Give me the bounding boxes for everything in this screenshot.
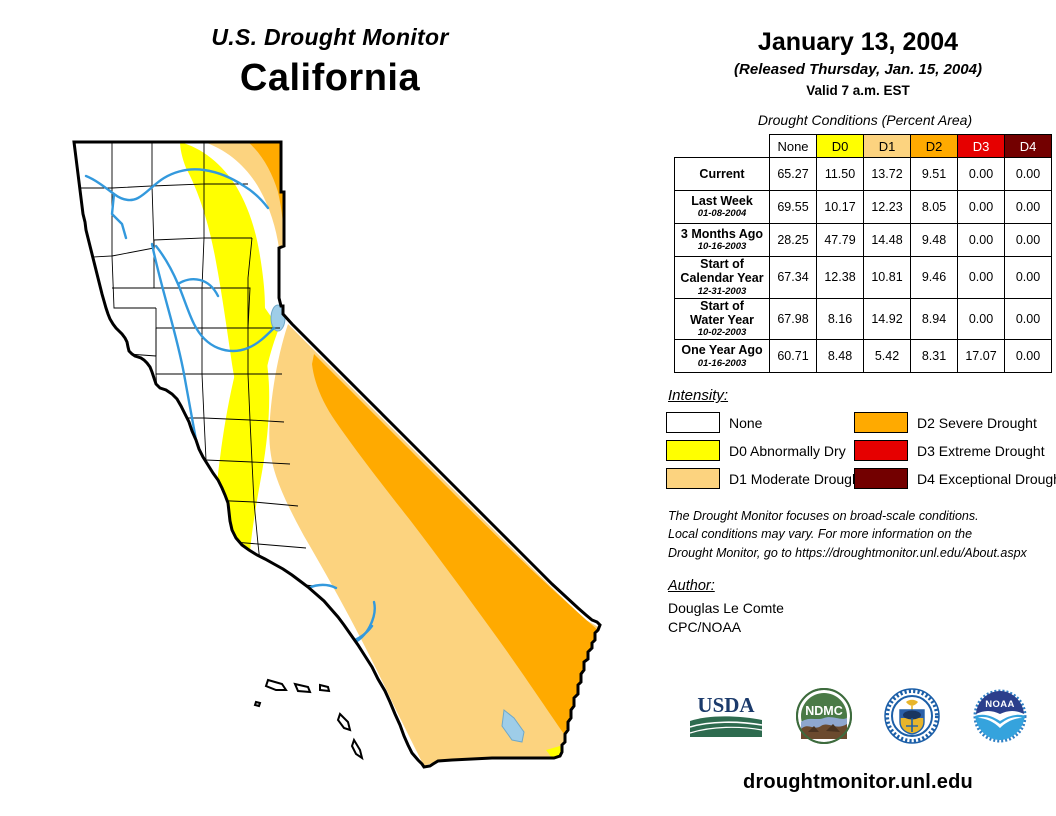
info-panel: January 13, 2004 (Released Thursday, Jan… xyxy=(660,0,1056,816)
column-header-none: None xyxy=(770,135,817,158)
table-row: Start ofWater Year10-02-200367.988.1614.… xyxy=(675,298,1052,340)
release-date: (Released Thursday, Jan. 15, 2004) xyxy=(660,61,1056,78)
cell-none: 60.71 xyxy=(770,340,817,373)
legend-item-d4: D4 Exceptional Drought xyxy=(854,468,1054,489)
author-label: Author: xyxy=(668,578,1056,594)
cell-d4: 0.00 xyxy=(1005,340,1052,373)
author-name: Douglas Le Comte xyxy=(668,599,1056,618)
cell-d4: 0.00 xyxy=(1005,158,1052,191)
svg-text:NOAA: NOAA xyxy=(985,699,1015,710)
cell-d0: 8.16 xyxy=(817,298,864,340)
row-label: Current xyxy=(675,158,770,191)
column-header-d3: D3 xyxy=(958,135,1005,158)
cell-d3: 0.00 xyxy=(958,158,1005,191)
row-label: Start ofCalendar Year12-31-2003 xyxy=(675,257,770,299)
cell-d3: 0.00 xyxy=(958,191,1005,224)
cell-d1: 5.42 xyxy=(864,340,911,373)
table-header-row: None D0 D1 D2 D3 D4 xyxy=(675,135,1052,158)
cell-d1: 14.92 xyxy=(864,298,911,340)
map-date: January 13, 2004 xyxy=(660,28,1056,57)
usda-logo: USDA xyxy=(688,691,764,741)
program-title: U.S. Drought Monitor xyxy=(0,24,660,51)
legend-swatch-d4 xyxy=(854,468,908,489)
commerce-seal-logo xyxy=(884,688,940,744)
disclaimer-line-2: Local conditions may vary. For more info… xyxy=(668,525,1056,543)
cell-d4: 0.00 xyxy=(1005,257,1052,299)
legend-label-d1: D1 Moderate Drought xyxy=(729,471,864,487)
legend-swatch-d1 xyxy=(666,468,720,489)
table-row: Start ofCalendar Year12-31-200367.3412.3… xyxy=(675,257,1052,299)
cell-d3: 17.07 xyxy=(958,340,1005,373)
cell-d3: 0.00 xyxy=(958,257,1005,299)
row-label: Last Week01-08-2004 xyxy=(675,191,770,224)
legend-item-d3: D3 Extreme Drought xyxy=(854,440,1054,461)
map-panel: U.S. Drought Monitor California xyxy=(0,0,660,816)
row-date: 10-02-2003 xyxy=(675,328,769,339)
svg-text:USDA: USDA xyxy=(697,693,755,717)
cell-d2: 9.46 xyxy=(911,257,958,299)
site-url[interactable]: droughtmonitor.unl.edu xyxy=(660,771,1056,794)
column-header-d0: D0 xyxy=(817,135,864,158)
cell-d0: 47.79 xyxy=(817,224,864,257)
cell-none: 65.27 xyxy=(770,158,817,191)
cell-none: 67.34 xyxy=(770,257,817,299)
cell-d2: 9.48 xyxy=(911,224,958,257)
row-label: 3 Months Ago10-16-2003 xyxy=(675,224,770,257)
cell-none: 28.25 xyxy=(770,224,817,257)
legend-swatch-d3 xyxy=(854,440,908,461)
table-row: Last Week01-08-200469.5510.1712.238.050.… xyxy=(675,191,1052,224)
cell-d3: 0.00 xyxy=(958,224,1005,257)
date-block: January 13, 2004 (Released Thursday, Jan… xyxy=(660,0,1056,98)
author-affiliation: CPC/NOAA xyxy=(668,618,1056,637)
legend-item-none: None xyxy=(666,412,854,433)
channel-islands xyxy=(255,680,362,758)
table-row: One Year Ago01-16-200360.718.485.428.311… xyxy=(675,340,1052,373)
intensity-legend: Intensity: NoneD2 Severe DroughtD0 Abnor… xyxy=(666,387,1056,489)
ndmc-logo: NDMC xyxy=(796,688,852,744)
legend-label-none: None xyxy=(729,415,762,431)
table-corner-cell xyxy=(675,135,770,158)
cell-d0: 11.50 xyxy=(817,158,864,191)
map-svg xyxy=(52,128,618,816)
cell-d0: 10.17 xyxy=(817,191,864,224)
table-row: Current65.2711.5013.729.510.000.00 xyxy=(675,158,1052,191)
cell-d4: 0.00 xyxy=(1005,191,1052,224)
cell-d2: 8.05 xyxy=(911,191,958,224)
row-date: 01-08-2004 xyxy=(675,209,769,220)
title-block: U.S. Drought Monitor California xyxy=(0,24,660,100)
cell-d3: 0.00 xyxy=(958,298,1005,340)
cell-d2: 9.51 xyxy=(911,158,958,191)
logo-row: USDA NDMC xyxy=(660,682,1056,750)
column-header-d1: D1 xyxy=(864,135,911,158)
table-caption: Drought Conditions (Percent Area) xyxy=(674,112,1056,128)
intensity-legend-title: Intensity: xyxy=(668,387,1056,404)
legend-label-d0: D0 Abnormally Dry xyxy=(729,443,846,459)
row-date: 01-16-2003 xyxy=(675,359,769,370)
page-title: California xyxy=(0,57,660,100)
cell-d0: 8.48 xyxy=(817,340,864,373)
column-header-d2: D2 xyxy=(911,135,958,158)
legend-item-d2: D2 Severe Drought xyxy=(854,412,1054,433)
row-date: 12-31-2003 xyxy=(675,287,769,298)
legend-item-d1: D1 Moderate Drought xyxy=(666,468,854,489)
row-date: 10-16-2003 xyxy=(675,242,769,253)
cell-d1: 14.48 xyxy=(864,224,911,257)
legend-swatch-d2 xyxy=(854,412,908,433)
cell-d2: 8.31 xyxy=(911,340,958,373)
cell-d1: 12.23 xyxy=(864,191,911,224)
cell-d4: 0.00 xyxy=(1005,224,1052,257)
legend-label-d3: D3 Extreme Drought xyxy=(917,443,1045,459)
column-header-d4: D4 xyxy=(1005,135,1052,158)
legend-grid: NoneD2 Severe DroughtD0 Abnormally DryD3… xyxy=(666,412,1056,489)
table-body: Current65.2711.5013.729.510.000.00Last W… xyxy=(675,158,1052,373)
california-drought-map[interactable] xyxy=(52,128,618,816)
cell-none: 69.55 xyxy=(770,191,817,224)
disclaimer-line-3: Drought Monitor, go to https://droughtmo… xyxy=(668,544,1056,562)
svg-text:NDMC: NDMC xyxy=(805,704,843,718)
disclaimer-text: The Drought Monitor focuses on broad-sca… xyxy=(668,507,1056,561)
disclaimer-line-1: The Drought Monitor focuses on broad-sca… xyxy=(668,507,1056,525)
legend-swatch-d0 xyxy=(666,440,720,461)
valid-time: Valid 7 a.m. EST xyxy=(660,83,1056,98)
cell-d1: 10.81 xyxy=(864,257,911,299)
author-block: Author: Douglas Le Comte CPC/NOAA xyxy=(668,578,1056,637)
row-label: Start ofWater Year10-02-2003 xyxy=(675,298,770,340)
legend-label-d4: D4 Exceptional Drought xyxy=(917,471,1056,487)
table-row: 3 Months Ago10-16-200328.2547.7914.489.4… xyxy=(675,224,1052,257)
row-label: One Year Ago01-16-2003 xyxy=(675,340,770,373)
cell-d4: 0.00 xyxy=(1005,298,1052,340)
legend-label-d2: D2 Severe Drought xyxy=(917,415,1037,431)
cell-d2: 8.94 xyxy=(911,298,958,340)
noaa-logo: NOAA xyxy=(972,688,1028,744)
cell-d1: 13.72 xyxy=(864,158,911,191)
legend-swatch-none xyxy=(666,412,720,433)
cell-d0: 12.38 xyxy=(817,257,864,299)
legend-item-d0: D0 Abnormally Dry xyxy=(666,440,854,461)
drought-conditions-table: None D0 D1 D2 D3 D4 Current65.2711.5013.… xyxy=(674,134,1052,373)
cell-none: 67.98 xyxy=(770,298,817,340)
